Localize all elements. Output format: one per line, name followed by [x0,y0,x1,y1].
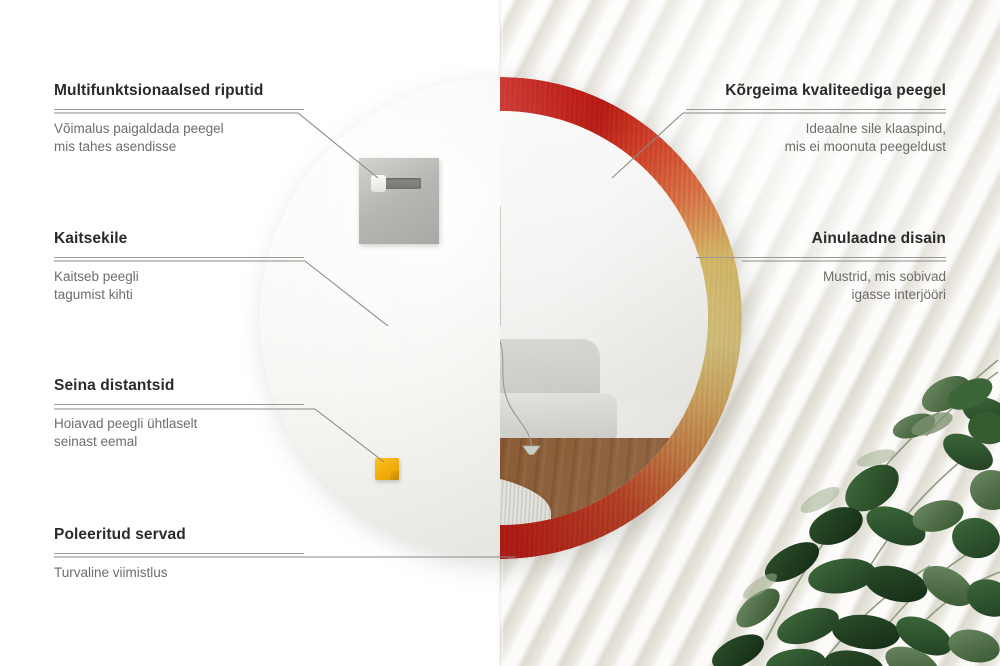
callout-protective-film: Kaitsekile Kaitseb peegli tagumist kihti [54,230,304,304]
callout-divider [696,257,946,258]
callout-title: Kõrgeima kvaliteediga peegel [686,82,946,100]
hanger-keyhole-slot [373,178,421,189]
callout-description: Turvaline viimistlus [54,564,304,582]
callout-title: Ainulaadne disain [696,230,946,248]
callout-divider [54,109,304,110]
callout-divider [686,109,946,110]
callout-divider [54,404,304,405]
callout-highest-quality-mirror: Kõrgeima kvaliteediga peegel Ideaalne si… [686,82,946,156]
callout-divider [54,257,304,258]
callout-wall-spacers: Seina distantsid Hoiavad peegli ühtlasel… [54,377,304,451]
callout-description: Ideaalne sile klaaspind, mis ei moonuta … [686,120,946,156]
callout-divider [54,553,304,554]
callout-polished-edges: Poleeritud servad Turvaline viimistlus [54,526,304,582]
callout-description: Mustrid, mis sobivad igasse interjööri [696,268,946,304]
callout-title: Seina distantsid [54,377,304,395]
wall-spacer-block [375,458,399,480]
callout-description: Hoiavad peegli ühtlaselt seinast eemal [54,415,304,451]
callout-title: Poleeritud servad [54,526,304,544]
callout-unique-design: Ainulaadne disain Mustrid, mis sobivad i… [696,230,946,304]
infographic-stage: Multifunktsionaalsed riputid Võimalus pa… [0,0,1000,666]
callout-description: Võimalus paigaldada peegel mis tahes ase… [54,120,304,156]
round-mirror [260,77,742,559]
plant-upper-sprig [886,366,1000,486]
callout-description: Kaitseb peegli tagumist kihti [54,268,304,304]
reflection-pendant-lamp [484,318,592,484]
callout-multifunctional-hangers: Multifunktsionaalsed riputid Võimalus pa… [54,82,304,156]
callout-title: Kaitsekile [54,230,304,248]
callout-title: Multifunktsionaalsed riputid [54,82,304,100]
hanger-plate [359,158,439,244]
